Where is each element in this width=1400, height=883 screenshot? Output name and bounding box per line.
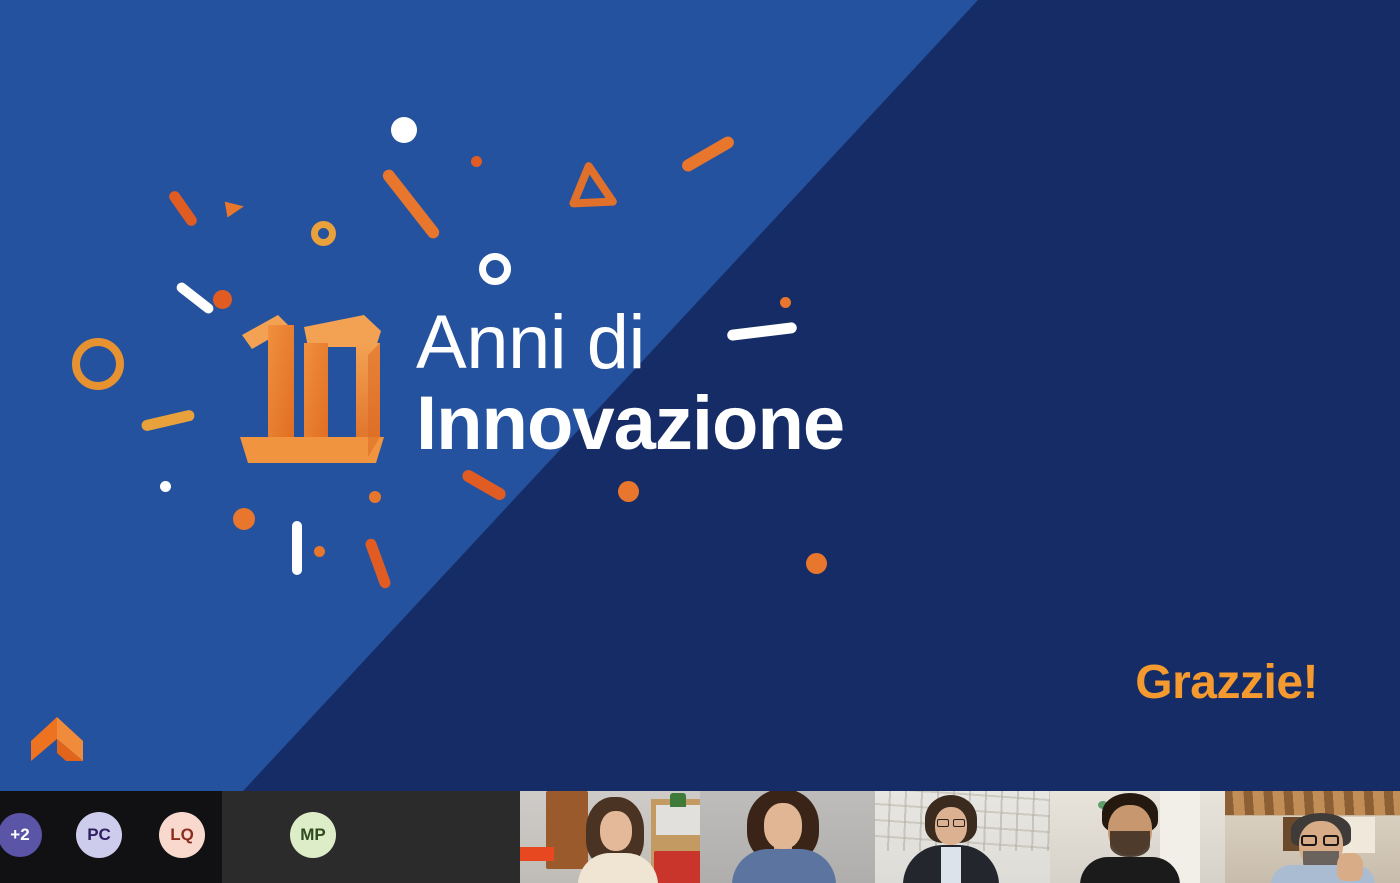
confetti-dot-orange-2 bbox=[213, 290, 232, 309]
overflow-participants-tile[interactable]: +2PCLQ bbox=[0, 791, 222, 883]
cam-part-gl-r bbox=[1323, 835, 1339, 846]
participant-tile-empty[interactable] bbox=[400, 791, 520, 883]
cam-part-gl-r bbox=[953, 819, 965, 827]
cam-part-body bbox=[732, 849, 836, 883]
avatar-initials-label: MP bbox=[300, 825, 326, 845]
confetti-ring-white bbox=[479, 253, 511, 285]
confetti-triangle-small bbox=[225, 199, 246, 218]
webcam-feed bbox=[875, 791, 1050, 883]
participant-video-tile-1[interactable] bbox=[520, 791, 700, 883]
participant-video-tile-4[interactable] bbox=[1050, 791, 1225, 883]
participant-tile-mp[interactable]: MP bbox=[222, 791, 400, 883]
slide-headline: Anni di Innovazione bbox=[416, 305, 1036, 467]
avatar-initials-label: LQ bbox=[170, 825, 194, 845]
webcam-feed bbox=[700, 791, 875, 883]
cam-part-shelf-in bbox=[656, 805, 700, 835]
confetti-bar-white-3 bbox=[292, 521, 302, 575]
cam-part-shirt bbox=[941, 847, 961, 883]
avatar-initials-lq[interactable]: LQ bbox=[159, 812, 205, 858]
cam-part-face bbox=[764, 803, 802, 849]
cam-part-face bbox=[600, 811, 632, 851]
confetti-ring-orange-large bbox=[72, 338, 124, 390]
cam-part-stripe bbox=[520, 847, 554, 861]
thanks-text: Grazzie! bbox=[1135, 655, 1318, 710]
cam-part-body bbox=[578, 853, 658, 883]
video-call-screen: Anni di Innovazione Grazzie! +2PCLQMP bbox=[0, 0, 1400, 883]
confetti-dot-white-large bbox=[391, 117, 417, 143]
confetti-dot-orange-3 bbox=[233, 508, 255, 530]
cam-part-green bbox=[670, 793, 686, 807]
shared-slide[interactable]: Anni di Innovazione Grazzie! bbox=[0, 0, 1400, 791]
avatar-initials-label: PC bbox=[87, 825, 111, 845]
cam-part-beam1 bbox=[1225, 791, 1400, 815]
avatar-initials-mp[interactable]: MP bbox=[290, 812, 336, 858]
cam-part-shelf-red bbox=[654, 851, 700, 883]
brand-chevron-logo-icon bbox=[30, 715, 85, 763]
cam-part-hand bbox=[1337, 853, 1363, 881]
participant-filmstrip[interactable]: +2PCLQMP bbox=[0, 791, 1400, 883]
headline-line-1: Anni di bbox=[416, 305, 1036, 381]
headline-line-2: Innovazione bbox=[416, 381, 1036, 467]
confetti-ring-orange-small bbox=[311, 221, 336, 246]
webcam-feed bbox=[1225, 791, 1400, 883]
webcam-feed bbox=[520, 791, 700, 883]
confetti-dot-orange-8 bbox=[806, 553, 827, 574]
avatar-overflow-count[interactable]: +2 bbox=[0, 813, 42, 857]
confetti-dot-orange-7 bbox=[618, 481, 639, 502]
cam-part-gl-l bbox=[937, 819, 949, 827]
cam-part-gl-l bbox=[1301, 835, 1317, 846]
webcam-feed bbox=[1050, 791, 1225, 883]
anniversary-10-logo bbox=[238, 305, 393, 465]
cam-part-beard bbox=[1110, 831, 1150, 857]
participant-video-tile-2[interactable] bbox=[700, 791, 875, 883]
confetti-dot-orange-5 bbox=[314, 546, 325, 557]
confetti-dot-white-small bbox=[160, 481, 171, 492]
cam-part-body bbox=[1080, 857, 1180, 883]
avatar-initials-pc[interactable]: PC bbox=[76, 812, 122, 858]
avatar-initials-label: +2 bbox=[10, 825, 29, 845]
participant-video-tile-3[interactable] bbox=[875, 791, 1050, 883]
confetti-dot-orange-1 bbox=[471, 156, 482, 167]
participant-video-tile-5[interactable] bbox=[1225, 791, 1400, 883]
confetti-dot-orange-4 bbox=[369, 491, 381, 503]
